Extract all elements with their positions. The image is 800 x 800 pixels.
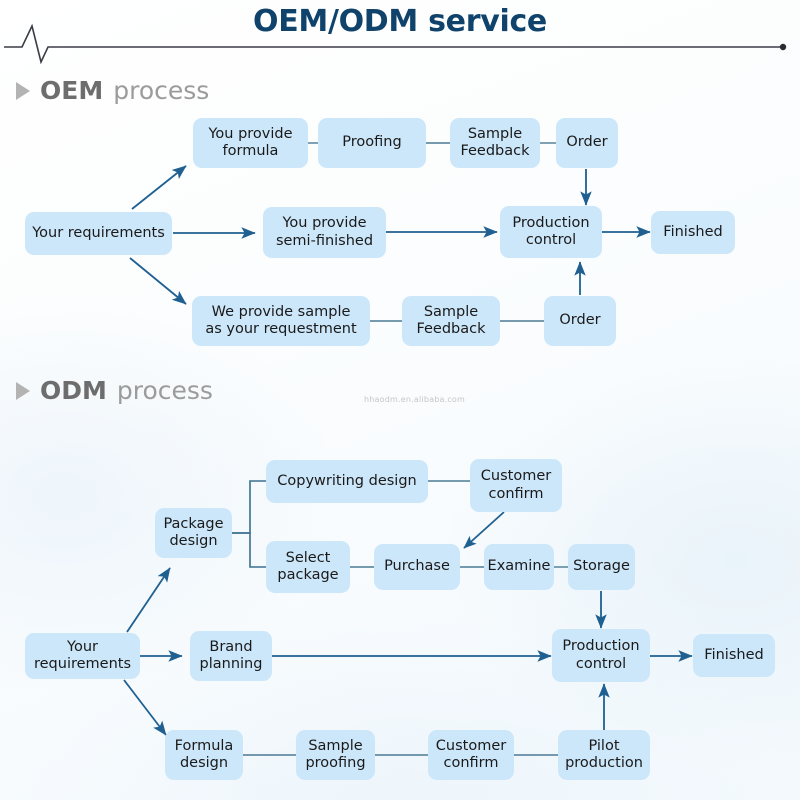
node-label: Finished [704,647,763,664]
node-label-line2: package [277,567,338,584]
node-label-line1: Formula [175,738,234,755]
node-label-line1: Customer [436,738,506,755]
node-label-line2: planning [200,656,263,673]
node-label: Examine [488,558,551,575]
node-label-line1: Select [286,550,331,567]
node-label: Storage [573,558,630,575]
node-label: Purchase [384,558,450,575]
node-production-control-odm[interactable]: Production control [552,629,650,682]
node-label-line2: design [180,755,228,772]
node-storage[interactable]: Storage [568,544,635,590]
odm-flow-nodes: Your requirements Package design Copywri… [0,0,800,800]
node-select-package[interactable]: Select package [266,541,350,593]
node-pilot-production[interactable]: Pilot production [558,730,650,780]
node-your-requirements-odm[interactable]: Your requirements [25,633,140,679]
node-label: Copywriting design [277,473,416,490]
node-label-line1: Customer [481,468,551,485]
node-label-line1: Package [163,516,223,533]
node-package-design[interactable]: Package design [155,508,232,558]
node-label-line2: proofing [305,755,365,772]
node-label-line2: confirm [444,755,499,772]
node-copywriting-design[interactable]: Copywriting design [266,460,428,503]
node-label-line1: Sample [308,738,362,755]
slide-canvas: OEM/ODM service OEM process ODM process … [0,0,800,800]
node-label-line1: Your [67,639,98,656]
node-label-line1: Brand [209,639,252,656]
node-examine[interactable]: Examine [484,544,554,590]
node-label-line1: Pilot [588,738,619,755]
node-sample-proofing[interactable]: Sample proofing [296,730,375,780]
node-customer-confirm-top[interactable]: Customer confirm [470,459,562,512]
node-label-line2: design [169,533,217,550]
node-label-line1: Production [562,638,639,655]
node-label-line2: requirements [34,656,131,673]
node-customer-confirm-bottom[interactable]: Customer confirm [428,730,514,780]
node-brand-planning[interactable]: Brand planning [190,631,272,681]
node-finished-odm[interactable]: Finished [693,634,775,677]
node-formula-design[interactable]: Formula design [165,730,243,780]
node-label-line2: production [565,755,643,772]
node-purchase[interactable]: Purchase [374,544,460,590]
node-label-line2: control [576,656,626,673]
node-label-line2: confirm [489,486,544,503]
